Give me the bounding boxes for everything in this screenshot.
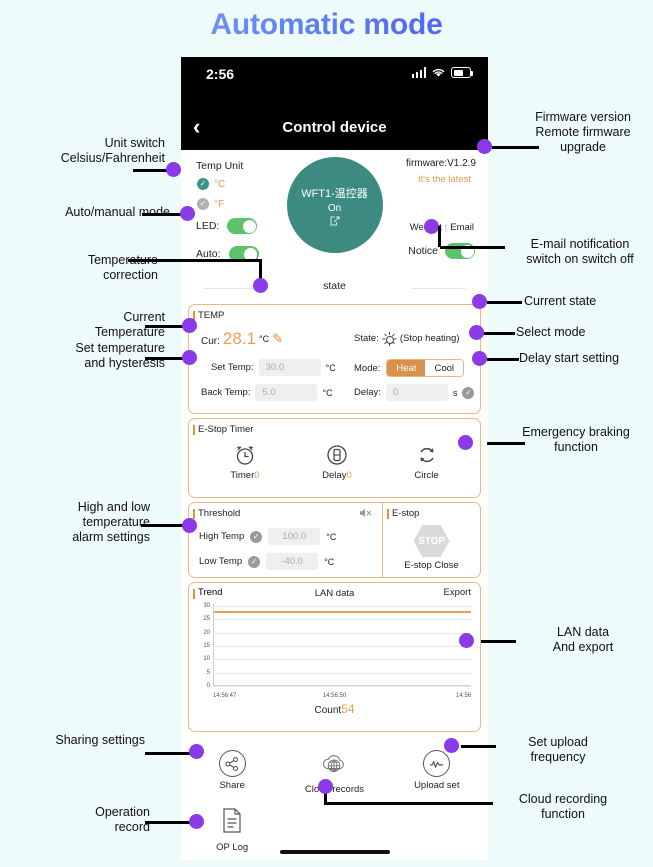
set-temp-unit: °C [326, 363, 336, 373]
check-circle-icon[interactable]: ✓ [250, 531, 262, 543]
leader-set-temp-hysteresis [145, 357, 185, 360]
device-power-state: On [328, 203, 341, 214]
chart-y-tick-label: 20 [198, 630, 210, 636]
leader-cloud-recording-horiz [324, 802, 426, 805]
estop-timer-card: E-Stop Timer Timer0 Delay0 [188, 418, 481, 498]
delay-item[interactable]: Delay0 [322, 443, 352, 481]
cloud-records-label: Cloud records [305, 784, 364, 795]
stop-octagon-icon[interactable]: STOP [414, 525, 450, 557]
leader-emergency-braking [487, 442, 525, 445]
divider-line-right [411, 288, 466, 289]
leader-select-mode [483, 332, 515, 335]
chart-y-tick-label: 15 [198, 643, 210, 649]
nav-title: Control device [181, 117, 488, 136]
page-title: Automatic mode [0, 8, 653, 42]
set-temp-input[interactable]: 30.0 [259, 359, 321, 376]
high-temp-input[interactable]: 100.0 [268, 528, 320, 545]
alarm-clock-icon [233, 443, 257, 467]
chart-gridline [213, 659, 471, 660]
estop-card: E-stop STOP E-stop Close [383, 503, 480, 577]
firmware-version[interactable]: firmware:V1.2.9 [406, 158, 476, 169]
dot-current-state [472, 294, 487, 309]
mode-segmented-control[interactable]: Heat Cool [386, 359, 464, 377]
delay-timer-label: Delay [322, 470, 346, 481]
led-label: LED: [196, 220, 219, 232]
chart-series-line [214, 611, 471, 613]
status-bar-clock: 2:56 [206, 66, 234, 82]
pencil-icon[interactable]: ✎ [272, 331, 283, 347]
dot-temp-correction [253, 278, 268, 293]
trend-chart[interactable]: 051015202530 14:56:4714:56:5014:56 [198, 604, 471, 700]
chart-y-axis [213, 604, 214, 686]
chart-gridline [213, 619, 471, 620]
trend-card: Trend LAN data Export 051015202530 14:56… [188, 582, 481, 732]
chart-gridline [213, 633, 471, 634]
annotation-alarm-settings: High and lowtemperaturealarm settings [10, 500, 150, 544]
check-circle-icon[interactable]: ✓ [248, 556, 260, 568]
cloud-globe-icon [320, 750, 348, 781]
delay-input[interactable]: 0 [386, 384, 448, 401]
state-value: (Stop heating) [400, 333, 460, 344]
state-divider-label: state [323, 280, 346, 292]
leader-set-upload-frequency [461, 745, 496, 748]
annotation-cloud-recording: Cloud recordingfunction [493, 792, 633, 822]
tool-row-1: Share Cloud records [181, 744, 488, 801]
unit-celsius-label: °C [214, 179, 225, 190]
leader-email-notification [440, 246, 505, 249]
back-temp-input[interactable]: 5.0 [255, 384, 317, 401]
unit-fahrenheit-label: °F [214, 199, 224, 210]
share-nodes-icon [219, 750, 246, 777]
dot-set-upload-frequency [444, 738, 459, 753]
leader-auto-manual [142, 213, 182, 216]
home-indicator [280, 850, 390, 854]
wifi-icon [431, 67, 446, 78]
count-label: Count [314, 705, 341, 716]
current-temp-unit: °C [259, 334, 269, 344]
dot-set-temp-hysteresis [182, 350, 197, 365]
leader-temp-correction [128, 259, 261, 262]
export-button[interactable]: Export [444, 587, 471, 598]
chart-gridline [213, 646, 471, 647]
edit-square-icon[interactable] [330, 216, 340, 226]
cellular-bars-icon [412, 67, 427, 78]
leader-current-state [487, 301, 522, 304]
threshold-estop-wrap: Threshold High Temp ✓ 100.0 °C Low Temp … [188, 502, 481, 578]
back-temp-unit: °C [322, 388, 332, 398]
state-label: State: [354, 333, 379, 344]
annotation-sharing-settings: Sharing settings [10, 733, 145, 748]
chart-y-tick-label: 5 [198, 670, 210, 676]
current-temp-value: 28.1 [223, 329, 256, 349]
estop-caption: E-stop Close [383, 560, 480, 571]
device-name: WFT1-温控器 [301, 185, 368, 201]
leader-email-notification-vert [438, 226, 441, 247]
set-temp-row: Set Temp: 30.0 °C [211, 359, 336, 376]
count-row: Count54 [189, 702, 480, 716]
mode-cool-button[interactable]: Cool [425, 360, 463, 376]
chart-x-tick-label: 14:56:47 [213, 693, 236, 699]
channel-divider: | [445, 222, 447, 233]
annotation-delay-start: Delay start setting [519, 351, 653, 366]
status-bar: 2:56 [181, 57, 488, 117]
timer-label: Timer [230, 470, 254, 481]
current-temperature-row: Cur: 28.1 °C ✎ [201, 329, 283, 349]
tool-upload-set[interactable]: Upload set [386, 744, 488, 801]
trend-label[interactable]: Trend [198, 587, 222, 598]
chart-y-tick-label: 25 [198, 616, 210, 622]
low-temp-label: Low Temp [199, 556, 242, 567]
estop-timer-title: E-Stop Timer [189, 419, 480, 435]
dot-select-mode [469, 325, 484, 340]
high-temp-row: High Temp ✓ 100.0 °C [199, 528, 336, 545]
state-divider: state [181, 280, 488, 300]
dot-emergency-braking [458, 435, 473, 450]
dot-sharing-settings [189, 744, 204, 759]
leader-lan-data-export [481, 640, 516, 643]
chart-gridline [213, 673, 471, 674]
firmware-latest-note: It's the latest [418, 174, 471, 185]
annotation-set-upload-frequency: Set uploadfrequency [498, 735, 618, 765]
chart-y-tick-label: 30 [198, 603, 210, 609]
dot-operation-record [189, 814, 204, 829]
tool-spacer-2 [386, 801, 488, 859]
check-circle-icon: ✓ [197, 198, 209, 210]
back-icon[interactable]: ‹ [193, 114, 200, 140]
dot-lan-data-export [459, 633, 474, 648]
current-state-row: State: (Stop heating) [354, 332, 460, 345]
temp-card: TEMP Cur: 28.1 °C ✎ State: (Stop heating… [188, 304, 481, 414]
back-temp-row: Back Temp: 5.0 °C [201, 384, 333, 401]
mode-heat-button[interactable]: Heat [387, 360, 425, 376]
leader-cloud-recording [425, 802, 493, 805]
mode-label: Mode: [354, 363, 380, 374]
leader-current-temperature [145, 325, 185, 328]
upload-set-label: Upload set [414, 780, 459, 791]
sun-icon [383, 332, 396, 345]
timer-item[interactable]: Timer0 [230, 443, 259, 481]
divider-line-left [203, 288, 258, 289]
status-bar-icons [412, 67, 472, 78]
chart-x-tick-label: 14:56 [456, 693, 471, 699]
leader-operation-record [145, 821, 190, 824]
dot-alarm-settings [182, 518, 197, 533]
lan-data-label: LAN data [189, 588, 480, 599]
chart-y-tick-label: 10 [198, 656, 210, 662]
notify-channels: Wechat|Email [410, 222, 474, 233]
temp-card-title: TEMP [189, 305, 480, 321]
hourglass-icon [325, 443, 349, 467]
annotation-unit-switch: Unit switchCelsius/Fahrenheit [10, 136, 165, 166]
speaker-muted-icon[interactable] [359, 507, 373, 519]
annotation-emergency-braking: Emergency brakingfunction [500, 425, 652, 455]
delay-unit: s [453, 388, 458, 398]
leader-alarm-settings [141, 524, 186, 527]
leader-firmware-upgrade [492, 146, 539, 149]
trend-header: Trend LAN data Export [189, 583, 480, 600]
timer-caption: Timer0 [230, 470, 259, 481]
phone-screenshot: 2:56 ‹ Control device Temp Unit ✓ °C ✓ °… [181, 57, 488, 860]
dot-email-notification [424, 219, 439, 234]
delay-caption: Delay0 [322, 470, 352, 481]
annotation-current-state: Current state [524, 294, 653, 309]
dot-current-temperature [182, 318, 197, 333]
circle-item[interactable]: Circle [414, 443, 438, 481]
tool-grid: Share Cloud records [181, 736, 488, 859]
low-temp-input[interactable]: -40.0 [266, 553, 318, 570]
waveform-circle-icon [423, 750, 450, 777]
chart-x-tick-label: 14:56:50 [323, 693, 346, 699]
notice-label: Notice [408, 245, 438, 257]
share-label: Share [219, 780, 244, 791]
unit-fahrenheit-option[interactable]: ✓ °F [197, 198, 224, 210]
led-toggle[interactable] [227, 218, 257, 234]
delay-label: Delay: [354, 387, 381, 398]
document-lines-icon [221, 807, 243, 839]
count-value: 54 [341, 702, 354, 716]
temp-unit-label: Temp Unit [196, 160, 243, 172]
high-temp-unit: °C [326, 532, 336, 542]
timer-value: 0 [254, 470, 259, 481]
check-circle-icon: ✓ [197, 178, 209, 190]
check-circle-icon[interactable]: ✓ [462, 387, 474, 399]
tool-op-log[interactable]: OP Log [181, 801, 283, 859]
mode-row: Mode: Heat Cool [354, 359, 464, 377]
current-temp-label: Cur: [201, 336, 220, 347]
chart-y-tick-label: 0 [198, 683, 210, 689]
set-temp-label: Set Temp: [211, 362, 254, 373]
threshold-card: Threshold High Temp ✓ 100.0 °C Low Temp … [189, 503, 383, 577]
chart-gridline [213, 606, 471, 607]
nav-bar: ‹ Control device [181, 117, 488, 150]
annotation-select-mode: Select mode [516, 325, 646, 340]
dot-unit-switch [166, 162, 181, 177]
leader-sharing-settings [145, 752, 190, 755]
dot-cloud-recording [318, 779, 333, 794]
led-toggle-row[interactable]: LED: [196, 218, 257, 234]
high-temp-label: High Temp [199, 531, 244, 542]
annotation-temp-correction: Temperaturecorrection [10, 253, 158, 283]
threshold-title: Threshold [189, 503, 382, 519]
unit-celsius-option[interactable]: ✓ °C [197, 178, 225, 190]
delay-timer-value: 0 [346, 470, 351, 481]
chart-gridline [213, 686, 471, 687]
annotation-operation-record: Operationrecord [10, 805, 150, 835]
circular-arrows-icon [415, 443, 439, 467]
dot-delay-start [472, 351, 487, 366]
delay-row: Delay: 0 s ✓ [354, 384, 474, 401]
low-temp-row: Low Temp ✓ -40.0 °C [199, 553, 334, 570]
estop-timer-items: Timer0 Delay0 Circle [189, 443, 480, 481]
low-temp-unit: °C [324, 557, 334, 567]
estop-title: E-stop [383, 503, 480, 519]
circle-caption: Circle [414, 470, 438, 481]
email-link[interactable]: Email [450, 222, 474, 233]
annotation-lan-data-export: LAN dataAnd export [518, 625, 648, 655]
annotation-set-temp-hysteresis: Set temperatureand hysteresis [10, 341, 165, 371]
battery-icon [451, 67, 471, 78]
leader-delay-start [487, 358, 519, 361]
op-log-label: OP Log [216, 842, 248, 853]
circle-label: Circle [414, 470, 438, 481]
back-temp-label: Back Temp: [201, 387, 250, 398]
dot-auto-manual [180, 206, 195, 221]
annotation-current-temperature: CurrentTemperature [10, 310, 165, 340]
device-status-circle[interactable]: WFT1-温控器 On [287, 157, 383, 253]
dot-firmware-upgrade [477, 139, 492, 154]
annotation-email-notification: E-mail notificationswitch on switch off [506, 237, 653, 267]
tool-cloud-records[interactable]: Cloud records [283, 744, 385, 801]
